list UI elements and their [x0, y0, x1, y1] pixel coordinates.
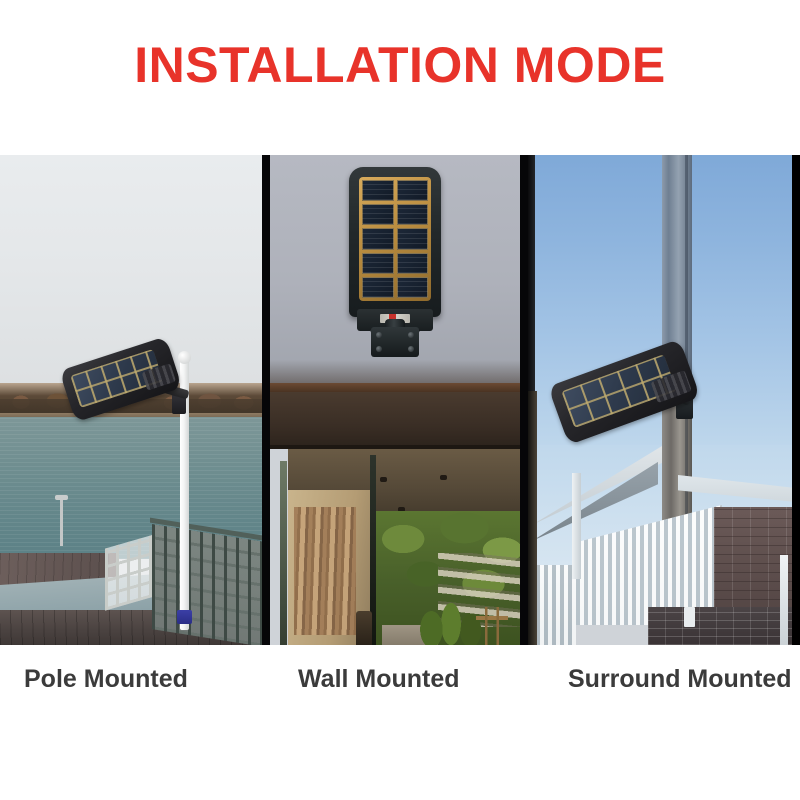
solar-cell [362, 277, 394, 298]
garden-chair [476, 607, 508, 645]
panel-divider-2 [520, 155, 528, 645]
ceiling-spotlight [440, 475, 447, 480]
caption-surround-mounted: Surround Mounted [568, 658, 792, 700]
mount-bolt-hole [408, 346, 414, 352]
solar-cell [397, 228, 429, 249]
solar-cell [362, 253, 394, 274]
panel-surround-mounted [528, 155, 792, 645]
mount-bolt-hole [376, 346, 382, 352]
corrugated-wall-left [532, 565, 576, 645]
house-soffit [270, 392, 520, 448]
wall-mount-plate [371, 327, 419, 357]
mount-bolt-hole [376, 332, 382, 338]
brick-course [648, 607, 792, 645]
railing-near [152, 524, 262, 645]
left-edge-structure [528, 391, 537, 645]
solar-street-light-front-view [343, 167, 447, 351]
studio-floor [270, 383, 520, 392]
solar-cell [362, 228, 394, 249]
caption-row: Pole Mounted Wall Mounted Surround Mount… [0, 658, 800, 702]
pole-collar-band [177, 610, 192, 624]
solar-cell [362, 180, 394, 201]
caption-wall-mounted: Wall Mounted [298, 658, 460, 700]
timber-wall-slats [294, 507, 356, 635]
floor-vase [356, 611, 372, 645]
ceiling-spotlight [380, 477, 387, 482]
panel-strip [0, 155, 800, 645]
page-title: INSTALLATION MODE [0, 36, 800, 94]
carport-white-post [572, 473, 581, 579]
infographic-page: INSTALLATION MODE [0, 0, 800, 800]
outdoor-socket [684, 607, 695, 627]
distant-mast [60, 500, 63, 546]
pole-cap [178, 351, 191, 364]
solar-cell [362, 204, 394, 225]
glass-door-frame [280, 461, 287, 645]
solar-cell [397, 180, 429, 201]
wall-trim [780, 555, 788, 645]
solar-cell [397, 277, 429, 298]
solar-cell [397, 204, 429, 225]
solar-panel-array [359, 177, 431, 301]
caption-pole-mounted: Pole Mounted [24, 658, 188, 700]
panel-pole-mounted [0, 155, 262, 645]
panel-divider-1 [262, 155, 270, 645]
panel-wall-mounted [270, 155, 520, 645]
solar-cell [397, 253, 429, 274]
mount-bolt-hole [408, 332, 414, 338]
